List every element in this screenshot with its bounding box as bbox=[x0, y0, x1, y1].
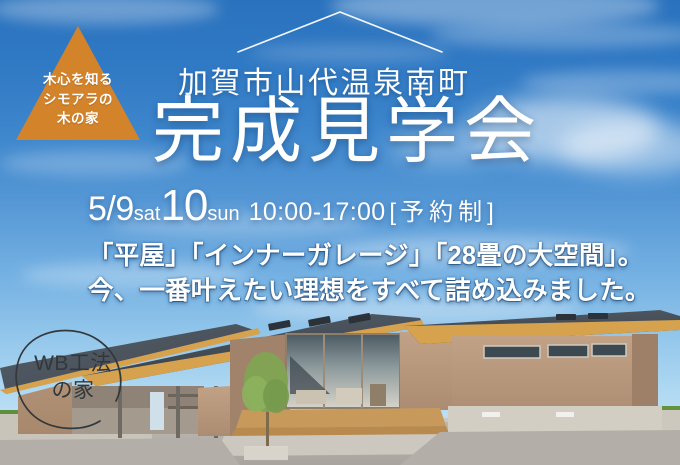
logo-line-1: 木心を知る bbox=[12, 70, 144, 90]
driveway bbox=[400, 430, 680, 465]
skylight bbox=[588, 313, 608, 319]
open-house-banner: 木心を知る シモアラの 木の家 加賀市山代温泉南町 完成見学会 5/9 sat … bbox=[0, 0, 680, 465]
wb-badge-text: WB工法 の家 bbox=[12, 351, 134, 405]
bracket-close: ] bbox=[487, 199, 494, 226]
event-dateline: 5/9 sat 10 sun 10:00-17:00 [予約制] bbox=[88, 181, 494, 231]
driveway-left bbox=[0, 438, 240, 465]
skylight bbox=[268, 320, 291, 331]
interior-furniture bbox=[296, 390, 326, 404]
event-month-day: 5/9 bbox=[88, 190, 134, 229]
garage-wall-return bbox=[632, 334, 658, 418]
foundation-vent bbox=[482, 412, 500, 417]
tree-foliage bbox=[263, 379, 289, 413]
wb-badge-line-2: の家 bbox=[12, 378, 134, 405]
event-day1-weekday: sat bbox=[134, 203, 161, 226]
company-triangle-logo: 木心を知る シモアラの 木の家 bbox=[12, 22, 144, 144]
garage-foundation bbox=[448, 406, 662, 432]
wb-method-badge: WB工法 の家 bbox=[12, 325, 134, 437]
reservation-label: 予約制 bbox=[396, 199, 487, 226]
ribbon-window bbox=[484, 346, 540, 358]
logo-line-3: 木の家 bbox=[12, 109, 144, 129]
event-time: 10:00-17:00 bbox=[249, 198, 386, 227]
planter bbox=[244, 446, 288, 460]
reservation-note: [予約制] bbox=[389, 192, 493, 227]
entry-left-wall bbox=[198, 386, 230, 436]
wb-badge-line-1: WB工法 bbox=[12, 351, 134, 378]
carport-post bbox=[176, 386, 180, 438]
event-day2: 10 bbox=[160, 181, 207, 231]
entry-right-wall bbox=[400, 332, 452, 410]
description-line-1: 「平屋」「インナーガレージ」「28畳の大空間」。 bbox=[88, 240, 651, 274]
skylight bbox=[556, 314, 576, 320]
carport-window bbox=[150, 392, 164, 430]
logo-line-2: シモアラの bbox=[12, 90, 144, 110]
interior-plant bbox=[370, 384, 386, 406]
interior-furniture bbox=[336, 388, 362, 404]
foundation-vent bbox=[556, 412, 574, 417]
logo-text-block: 木心を知る シモアラの 木の家 bbox=[12, 70, 144, 129]
ribbon-window bbox=[592, 344, 626, 356]
event-day2-weekday: sun bbox=[207, 203, 239, 226]
event-title: 完成見学会 bbox=[152, 96, 542, 168]
ribbon-window bbox=[548, 345, 588, 357]
